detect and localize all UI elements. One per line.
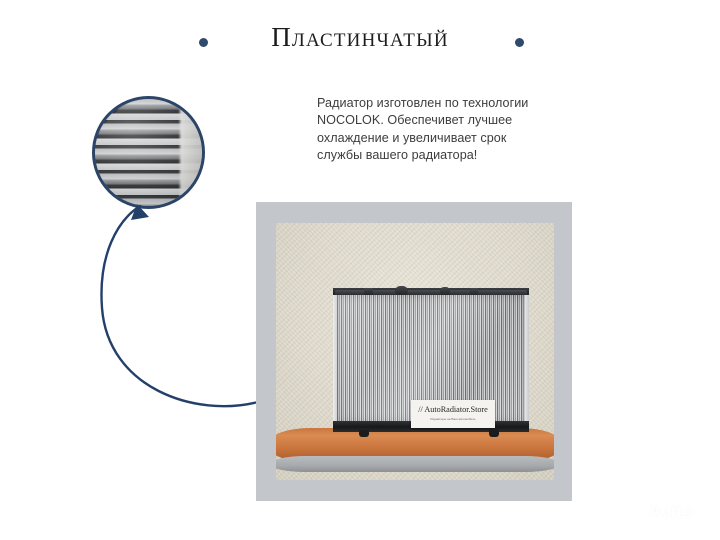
placard-title: // AutoRadiator.Store (411, 405, 495, 414)
bullet-dot-icon-right (515, 38, 524, 47)
bullet-dot-icon-left (199, 38, 208, 47)
avito-watermark: Avito (620, 501, 706, 527)
curved-arrow-icon (100, 190, 275, 415)
product-photo: // AutoRadiator.Store Радиаторы на Ваш а… (276, 223, 554, 480)
avito-wordmark: Avito (648, 502, 693, 524)
radiator-mount-foot (489, 430, 499, 437)
placard-subtitle: Радиаторы на Ваш автомобиль (411, 417, 495, 421)
slide-canvas: Пластинчатый Радиатор изготовлен по техн… (0, 0, 720, 540)
description-text: Радиатор изготовлен по технологии NOCOLO… (317, 95, 552, 165)
avito-logo-icon (620, 501, 646, 523)
product-photo-frame: // AutoRadiator.Store Радиаторы на Ваш а… (256, 202, 572, 501)
store-placard: // AutoRadiator.Store Радиаторы на Ваш а… (411, 400, 495, 428)
radiator-mount-foot (359, 430, 369, 437)
page-title: Пластинчатый (0, 22, 720, 53)
table-edge (276, 456, 554, 472)
